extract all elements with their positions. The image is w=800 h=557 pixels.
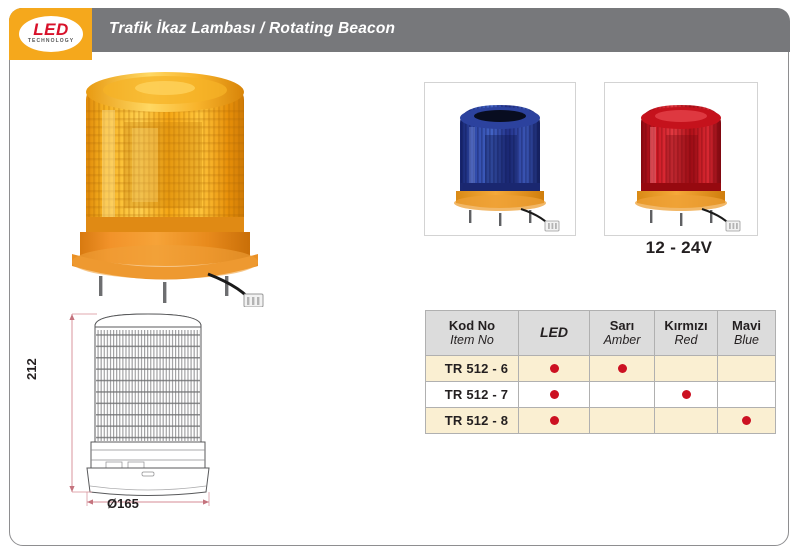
catalog-page: Trafik İkaz Lambası / Rotating Beacon LE…	[0, 0, 800, 557]
cell-red	[655, 382, 718, 408]
column-header-code: Kod No Item No	[426, 311, 519, 356]
thumbnail-beacon-blue	[424, 82, 576, 236]
cell-led	[519, 356, 590, 382]
availability-dot	[550, 390, 559, 399]
product-spec-table: Kod No Item No LED Sarı Amber Kırmızı Re…	[425, 310, 776, 434]
dimension-diameter-label: Ø165	[107, 496, 139, 511]
column-header-led: LED	[519, 311, 590, 356]
availability-dot	[742, 416, 751, 425]
column-header-amber: Sarı Amber	[590, 311, 655, 356]
voltage-rating-label: 12 - 24V	[600, 238, 758, 258]
availability-dot	[618, 364, 627, 373]
availability-dot	[550, 364, 559, 373]
cell-blue	[718, 382, 776, 408]
cell-amber	[590, 382, 655, 408]
cell-item-code: TR 512 - 6	[426, 356, 519, 382]
cell-led	[519, 382, 590, 408]
brand-logo: LED TECHNOLOGY	[9, 8, 92, 60]
cell-blue	[718, 356, 776, 382]
technical-drawing	[20, 300, 275, 532]
thumbnail-beacon-red	[604, 82, 758, 236]
cell-item-code: TR 512 - 8	[426, 408, 519, 434]
cell-amber	[590, 408, 655, 434]
table-row: TR 512 - 8	[426, 408, 776, 434]
column-header-red: Kırmızı Red	[655, 311, 718, 356]
cell-red	[655, 356, 718, 382]
availability-dot	[682, 390, 691, 399]
table-row: TR 512 - 6	[426, 356, 776, 382]
header-bar: Trafik İkaz Lambası / Rotating Beacon	[9, 8, 790, 52]
logo-tagline-text: TECHNOLOGY	[19, 39, 83, 44]
cell-red	[655, 408, 718, 434]
logo-ellipse: LED TECHNOLOGY	[19, 16, 83, 52]
column-header-blue: Mavi Blue	[718, 311, 776, 356]
availability-dot	[550, 416, 559, 425]
table-row: TR 512 - 7	[426, 382, 776, 408]
cell-amber	[590, 356, 655, 382]
logo-brand-text: LED	[19, 21, 83, 38]
page-title: Trafik İkaz Lambası / Rotating Beacon	[109, 20, 395, 38]
cell-led	[519, 408, 590, 434]
dimension-height-label: 212	[24, 358, 39, 380]
cell-blue	[718, 408, 776, 434]
table-header-row: Kod No Item No LED Sarı Amber Kırmızı Re…	[426, 311, 776, 356]
hero-product-image	[58, 62, 273, 307]
cell-item-code: TR 512 - 7	[426, 382, 519, 408]
